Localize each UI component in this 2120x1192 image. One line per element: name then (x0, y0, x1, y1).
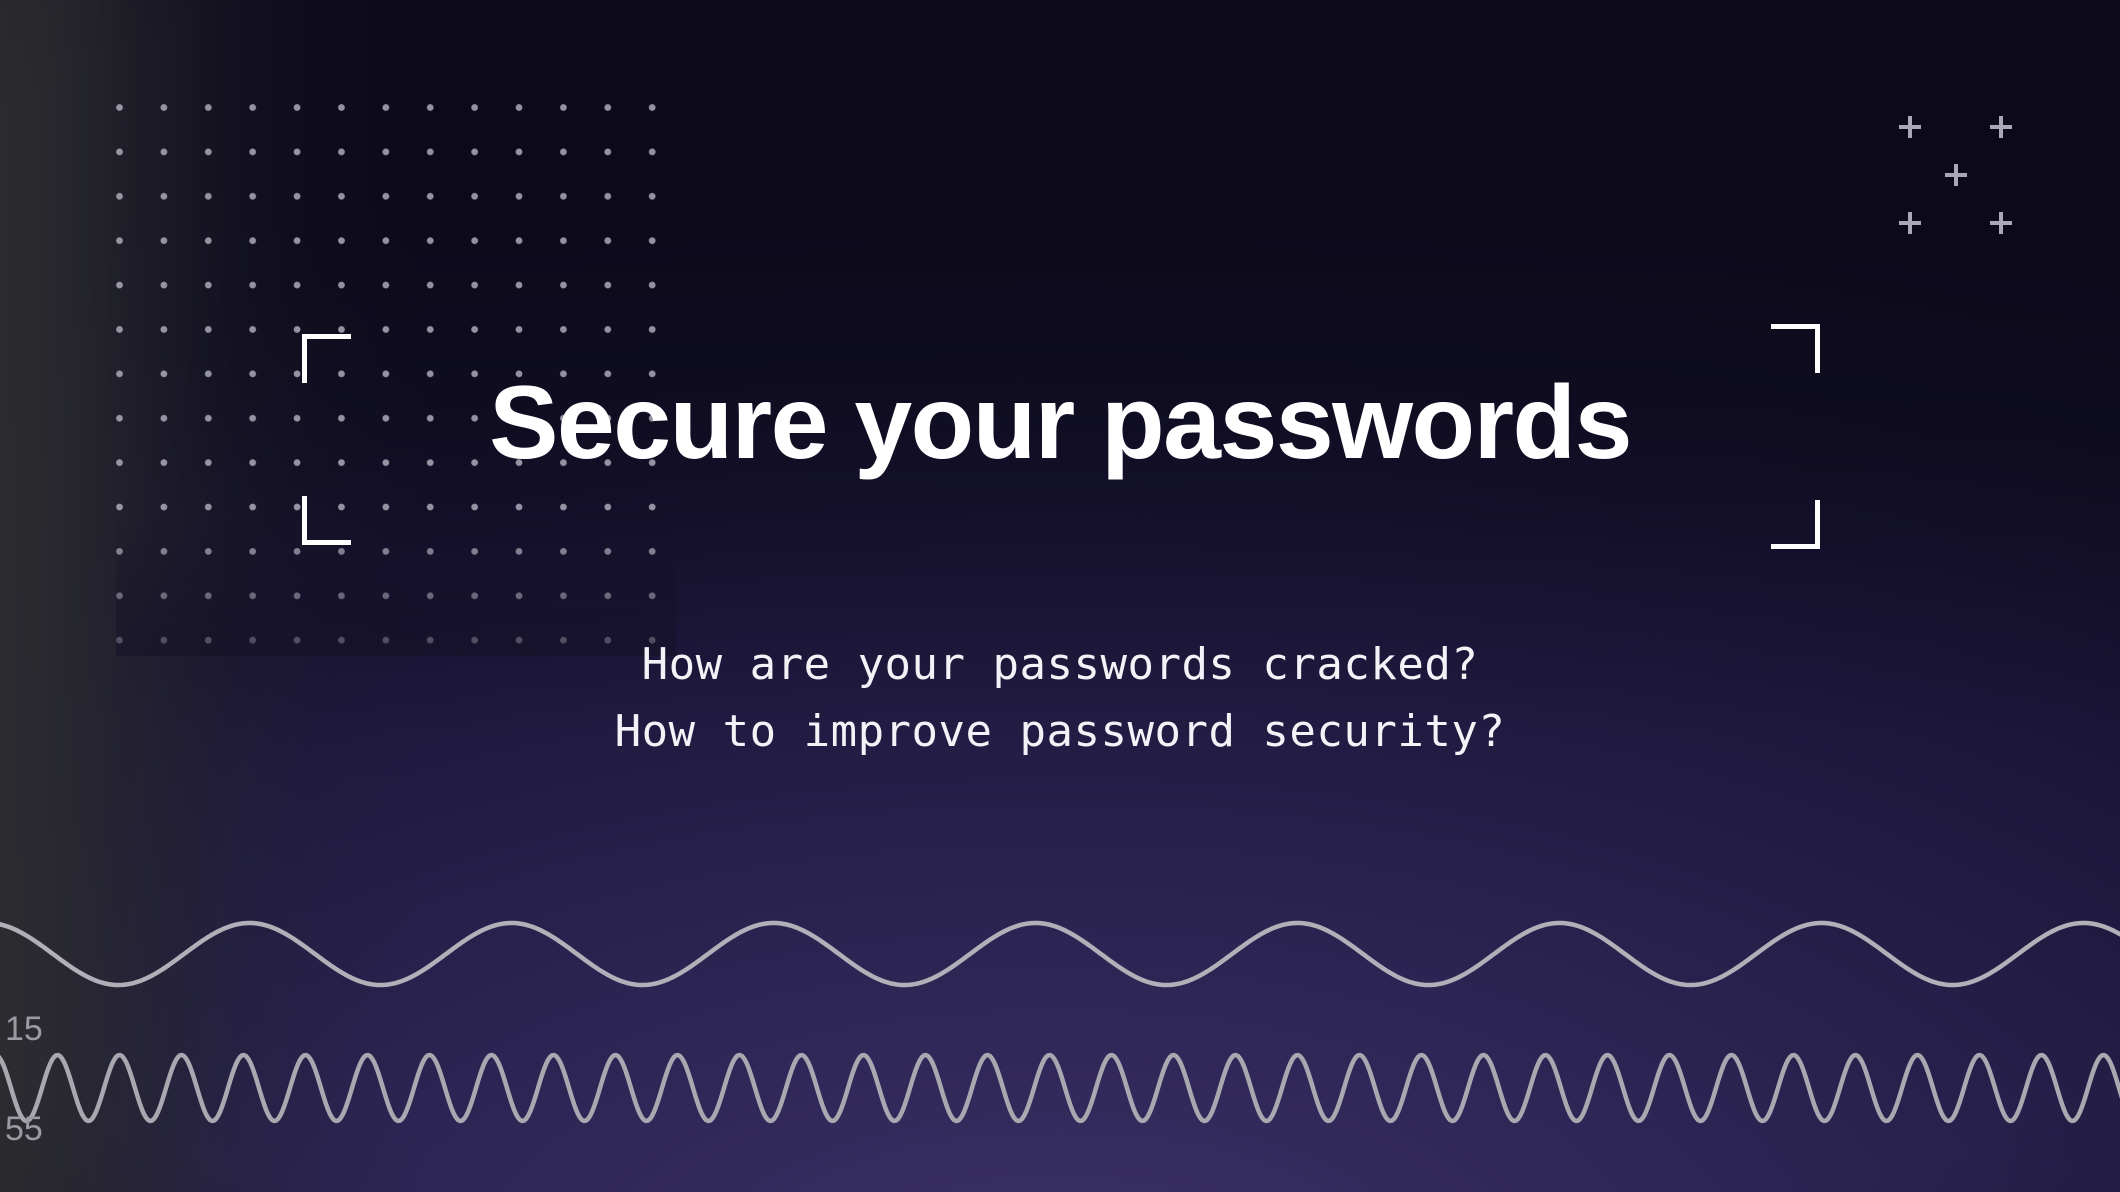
wave-label-lower: 55 (5, 1112, 43, 1146)
subtitle-line-1: How are your passwords cracked? (0, 632, 2120, 699)
wave-label-upper: 15 (5, 1012, 43, 1046)
plus-mark-icon (1990, 116, 2012, 138)
plus-mark-icon (1899, 116, 1921, 138)
plus-mark-icon (1945, 164, 1967, 186)
presentation-slide: Secure your passwords How are your passw… (0, 0, 2120, 1192)
corner-bracket-bottom-right-icon (1771, 500, 1820, 549)
subtitle-block: How are your passwords cracked? How to i… (0, 632, 2120, 766)
plus-mark-icon (1990, 212, 2012, 234)
corner-bracket-top-right-icon (1771, 324, 1820, 373)
page-title: Secure your passwords (0, 368, 2120, 478)
corner-bracket-bottom-left-icon (302, 496, 351, 545)
plus-mark-icon (1899, 212, 1921, 234)
subtitle-line-2: How to improve password security? (0, 699, 2120, 766)
